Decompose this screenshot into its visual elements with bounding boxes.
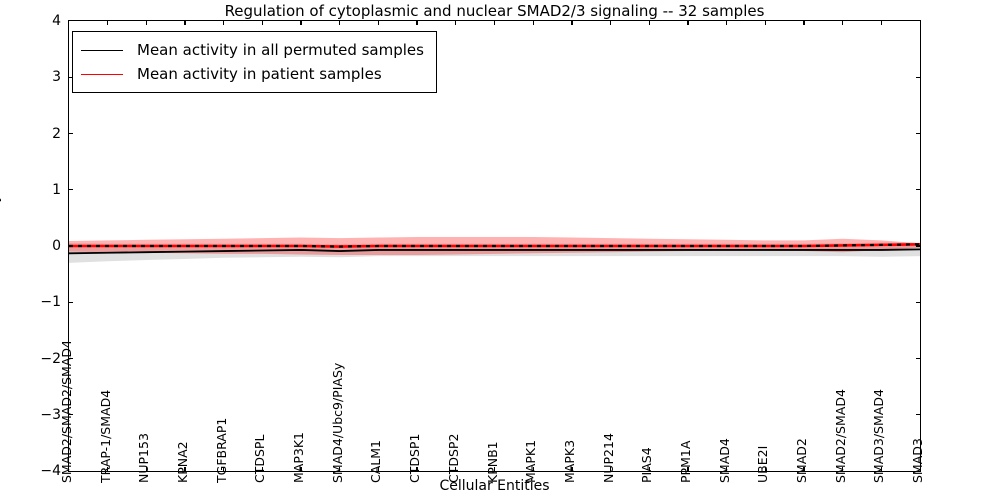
- y-tick-label: 2: [6, 126, 61, 142]
- y-tick-mark: [916, 414, 921, 415]
- y-tick-mark: [916, 245, 921, 246]
- x-tick-mark: [649, 20, 650, 25]
- y-tick-mark: [68, 189, 73, 190]
- x-tick-mark: [726, 20, 727, 25]
- x-tick-label: SMAD3/SMAD4: [871, 389, 886, 483]
- x-tick-label: KPNB1: [485, 441, 500, 483]
- x-tick-label: MAPK3: [562, 440, 577, 483]
- chart-legend: Mean activity in all permuted samples Me…: [72, 31, 437, 93]
- y-tick-label: −1: [6, 294, 61, 310]
- legend-entry-patient: Mean activity in patient samples: [81, 62, 424, 86]
- x-tick-mark: [184, 20, 185, 25]
- x-tick-mark: [339, 20, 340, 25]
- x-axis-label: Cellular Entities: [68, 478, 921, 494]
- x-tick-label: MAP3K1: [291, 432, 306, 483]
- x-tick-mark: [262, 20, 263, 25]
- y-tick-mark: [68, 133, 73, 134]
- x-tick-label: CTDSPL: [252, 435, 267, 483]
- x-tick-mark: [881, 20, 882, 25]
- chart-title: Regulation of cytoplasmic and nuclear SM…: [68, 2, 921, 20]
- x-tick-label: MAPK1: [523, 440, 538, 483]
- y-tick-label: −4: [6, 463, 61, 479]
- legend-label-permuted: Mean activity in all permuted samples: [137, 41, 424, 59]
- y-tick-label: −3: [6, 407, 61, 423]
- x-tick-mark: [687, 20, 688, 25]
- y-tick-mark: [916, 133, 921, 134]
- y-tick-label: −2: [6, 351, 61, 367]
- x-tick-label: SMAD2/SMAD2/SMAD4: [59, 340, 74, 483]
- x-tick-mark: [416, 20, 417, 25]
- y-tick-label: 4: [6, 13, 61, 29]
- y-tick-label: 1: [6, 182, 61, 198]
- x-tick-label: SMAD3: [910, 438, 925, 483]
- x-tick-mark: [533, 20, 534, 25]
- x-tick-mark: [842, 20, 843, 25]
- x-tick-label: TRAP-1/SMAD4: [98, 390, 113, 483]
- y-tick-mark: [916, 358, 921, 359]
- x-tick-label: SMAD2: [794, 438, 809, 483]
- x-tick-label: NUP153: [136, 433, 151, 483]
- x-tick-label: PPM1A: [678, 441, 693, 483]
- x-tick-label: SMAD4: [717, 438, 732, 483]
- x-tick-label: CTDSP1: [407, 434, 422, 483]
- y-tick-label: 3: [6, 69, 61, 85]
- x-tick-mark: [107, 20, 108, 25]
- chart-figure: Regulation of cytoplasmic and nuclear SM…: [0, 0, 1000, 500]
- x-tick-mark: [378, 20, 379, 25]
- x-tick-mark: [223, 20, 224, 25]
- x-tick-label: TGFBRAP1: [214, 418, 229, 483]
- x-tick-mark: [146, 20, 147, 25]
- y-tick-mark: [916, 302, 921, 303]
- x-tick-mark: [571, 20, 572, 25]
- x-tick-mark: [765, 20, 766, 25]
- x-tick-mark: [455, 20, 456, 25]
- legend-swatch-patient: [81, 74, 123, 75]
- legend-swatch-permuted: [81, 50, 123, 51]
- y-axis-label: Inferred Activity: [0, 194, 2, 306]
- x-tick-label: CALM1: [368, 440, 383, 483]
- x-tick-label: SMAD2/SMAD4: [833, 389, 848, 483]
- x-tick-label: NUP214: [601, 433, 616, 483]
- x-tick-mark: [494, 20, 495, 25]
- x-tick-mark: [803, 20, 804, 25]
- y-tick-mark: [916, 189, 921, 190]
- x-tick-label: KPNA2: [175, 441, 190, 483]
- x-tick-label: SMAD4/Ubc9/PIASy: [330, 363, 345, 483]
- y-tick-mark: [68, 302, 73, 303]
- y-tick-label: 0: [6, 238, 61, 254]
- x-tick-mark: [610, 20, 611, 25]
- legend-label-patient: Mean activity in patient samples: [137, 65, 382, 83]
- x-tick-mark: [300, 20, 301, 25]
- y-tick-mark: [68, 245, 73, 246]
- x-tick-label: CTDSP2: [446, 434, 461, 483]
- legend-entry-permuted: Mean activity in all permuted samples: [81, 38, 424, 62]
- y-tick-mark: [916, 77, 921, 78]
